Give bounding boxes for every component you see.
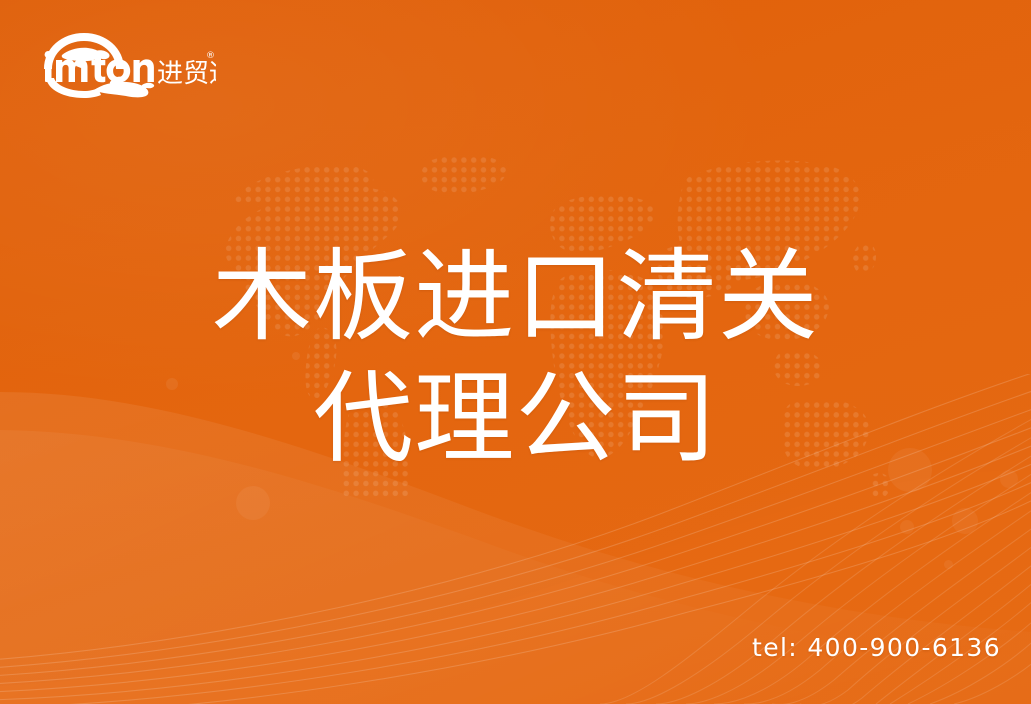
trademark-icon: ® xyxy=(206,51,215,61)
headline-line-2: 代理公司 xyxy=(0,358,1031,480)
brand-logo[interactable]: 进贸通 ® xyxy=(36,28,216,100)
logo-graphic: 进贸通 ® xyxy=(36,28,216,100)
logo-chinese-name: 进贸通 xyxy=(157,59,216,89)
page-title: 木板进口清关 代理公司 xyxy=(0,236,1031,480)
contact-phone[interactable]: tel: 400-900-6136 xyxy=(752,633,1001,662)
logo-wordmark-imton xyxy=(45,51,154,83)
promo-banner: 进贸通 ® 木板进口清关 代理公司 tel: 400-900-6136 xyxy=(0,0,1031,704)
headline-line-1: 木板进口清关 xyxy=(0,236,1031,358)
